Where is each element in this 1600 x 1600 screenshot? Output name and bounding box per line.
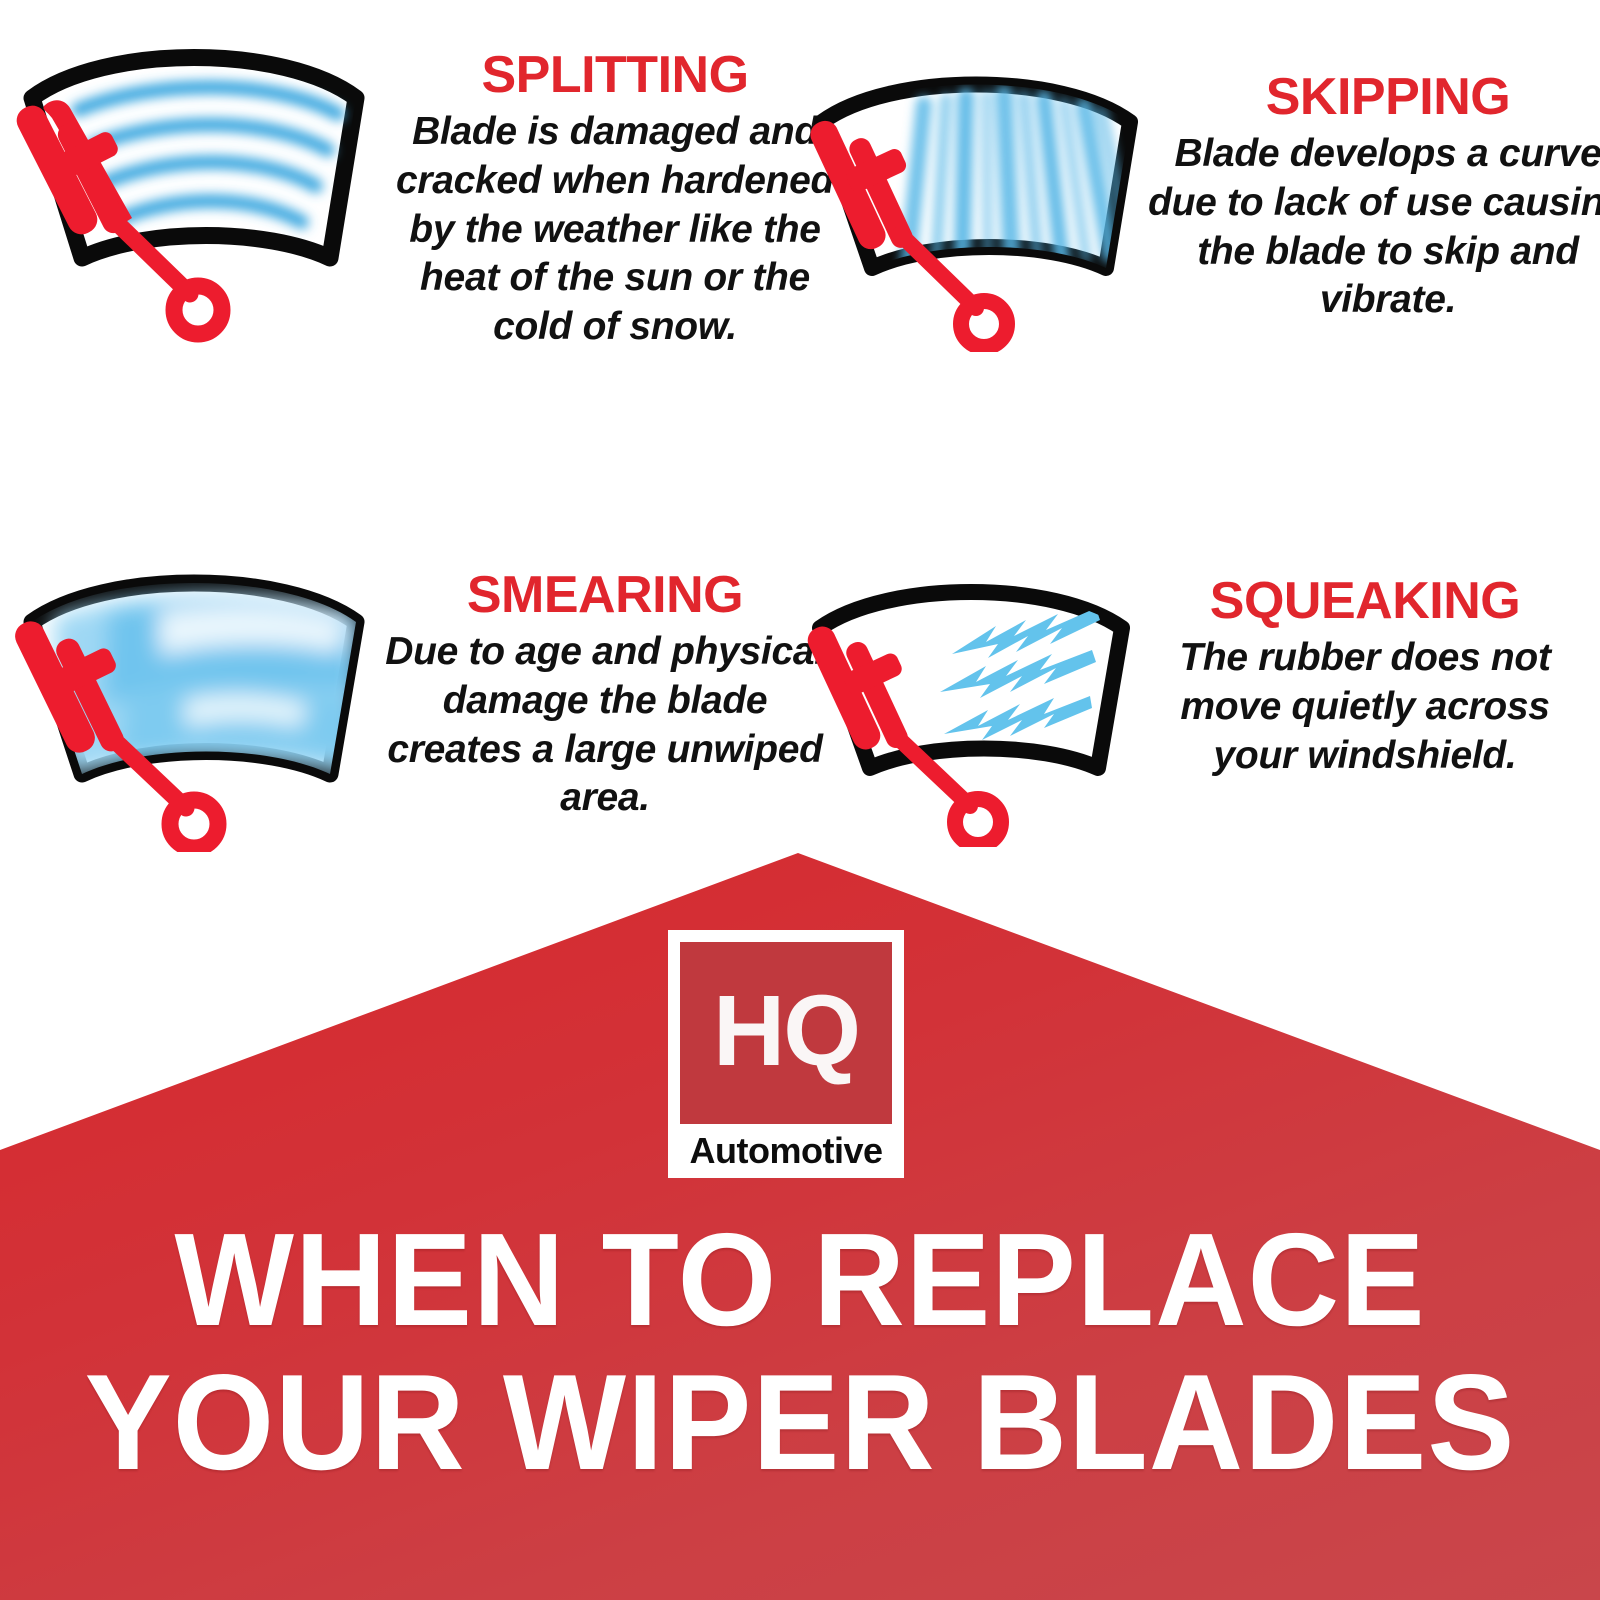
wiper-windshield-smearing-icon bbox=[8, 552, 380, 852]
symptom-text-skipping: SKIPPING Blade develops a curve due to l… bbox=[1148, 52, 1600, 325]
symptom-card-skipping: SKIPPING Blade develops a curve due to l… bbox=[800, 52, 1590, 382]
logo-mark-text: HQ bbox=[713, 981, 859, 1081]
headline-line-2: YOUR WIPER BLADES bbox=[32, 1350, 1568, 1494]
wiper-windshield-skipping-icon bbox=[800, 52, 1148, 352]
symptom-title: SPLITTING bbox=[380, 48, 850, 102]
symptom-text-smearing: SMEARING Due to age and physical damage … bbox=[380, 552, 830, 823]
symptom-text-splitting: SPLITTING Blade is damaged and cracked w… bbox=[380, 22, 850, 352]
symptom-card-squeaking: SQUEAKING The rubber does not move quiet… bbox=[800, 562, 1590, 842]
banner-headline: WHEN TO REPLACE YOUR WIPER BLADES bbox=[0, 1210, 1600, 1494]
symptom-card-smearing: SMEARING Due to age and physical damage … bbox=[8, 552, 778, 852]
logo-wordmark-box: Automotive bbox=[680, 1124, 892, 1178]
logo-wordmark-text: Automotive bbox=[690, 1130, 883, 1172]
symptom-text-squeaking: SQUEAKING The rubber does not move quiet… bbox=[1140, 562, 1590, 780]
wiper-windshield-splitting-icon bbox=[8, 22, 380, 352]
symptom-description: Blade develops a curve due to lack of us… bbox=[1148, 130, 1600, 325]
wiper-windshield-squeaking-icon bbox=[800, 562, 1140, 847]
infographic-canvas: SPLITTING Blade is damaged and cracked w… bbox=[0, 0, 1600, 1600]
symptom-title: SMEARING bbox=[380, 568, 830, 622]
symptom-description: The rubber does not move quietly across … bbox=[1150, 634, 1580, 780]
symptoms-grid: SPLITTING Blade is damaged and cracked w… bbox=[0, 0, 1600, 855]
symptom-title: SKIPPING bbox=[1148, 70, 1600, 124]
logo-mark-box: HQ bbox=[680, 942, 892, 1124]
symptom-card-splitting: SPLITTING Blade is damaged and cracked w… bbox=[8, 22, 778, 392]
symptom-description: Due to age and physical damage the blade… bbox=[380, 628, 830, 823]
symptom-title: SQUEAKING bbox=[1140, 574, 1590, 628]
symptom-description: Blade is damaged and cracked when harden… bbox=[380, 108, 850, 352]
bottom-banner: HQ Automotive WHEN TO REPLACE YOUR WIPER… bbox=[0, 840, 1600, 1600]
headline-line-1: WHEN TO REPLACE bbox=[32, 1210, 1568, 1350]
hq-automotive-logo: HQ Automotive bbox=[668, 930, 904, 1178]
